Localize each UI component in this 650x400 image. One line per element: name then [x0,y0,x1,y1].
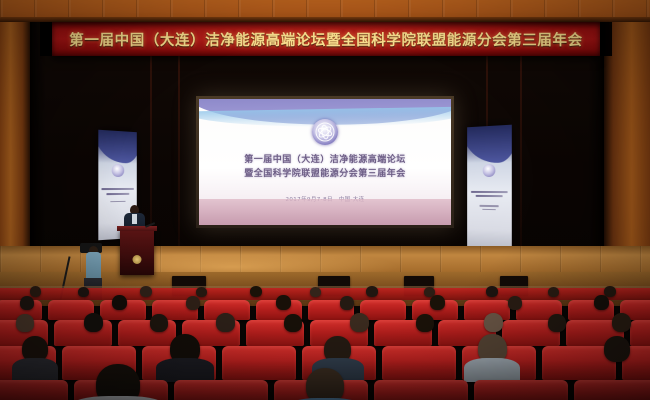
stage-banner: 第一届中国（大连）洁净能源高端论坛暨全国科学院联盟能源分会第三届年会 [52,22,600,56]
rollup-right-emblem-icon [483,164,496,177]
presenter-shirt [132,214,137,224]
banner-title-text: 第一届中国（大连）洁净能源高端论坛暨全国科学院联盟能源分会第三届年会 [69,29,582,50]
institute-atom-emblem [312,119,338,145]
projection-screen-frame: 第一届中国（大连）洁净能源高端论坛 暨全国科学院联盟能源分会第三届年会 2017… [196,96,454,228]
slide-title-line2: 暨全国科学院联盟能源分会第三届年会 [199,167,451,181]
slide-title-line1: 第一届中国（大连）洁净能源高端论坛 [199,153,451,167]
rollup-left-emblem-icon [112,164,124,177]
audience-seating [0,286,650,400]
rollup-banner-right [467,125,512,250]
podium-emblem-icon [133,255,142,264]
slide-bottom-band [199,199,451,225]
ceiling-wood-panel [0,0,650,22]
projection-screen: 第一届中国（大连）洁净能源高端论坛 暨全国科学院联盟能源分会第三届年会 2017… [199,99,451,225]
slide-title: 第一届中国（大连）洁净能源高端论坛 暨全国科学院联盟能源分会第三届年会 [199,153,451,181]
speaker-podium [120,229,154,275]
banner-right-shadow [598,22,612,56]
conference-photo: 第一届中国（大连）洁净能源高端论坛暨全国科学院联盟能源分会第三届年会 第一届中国… [0,0,650,400]
